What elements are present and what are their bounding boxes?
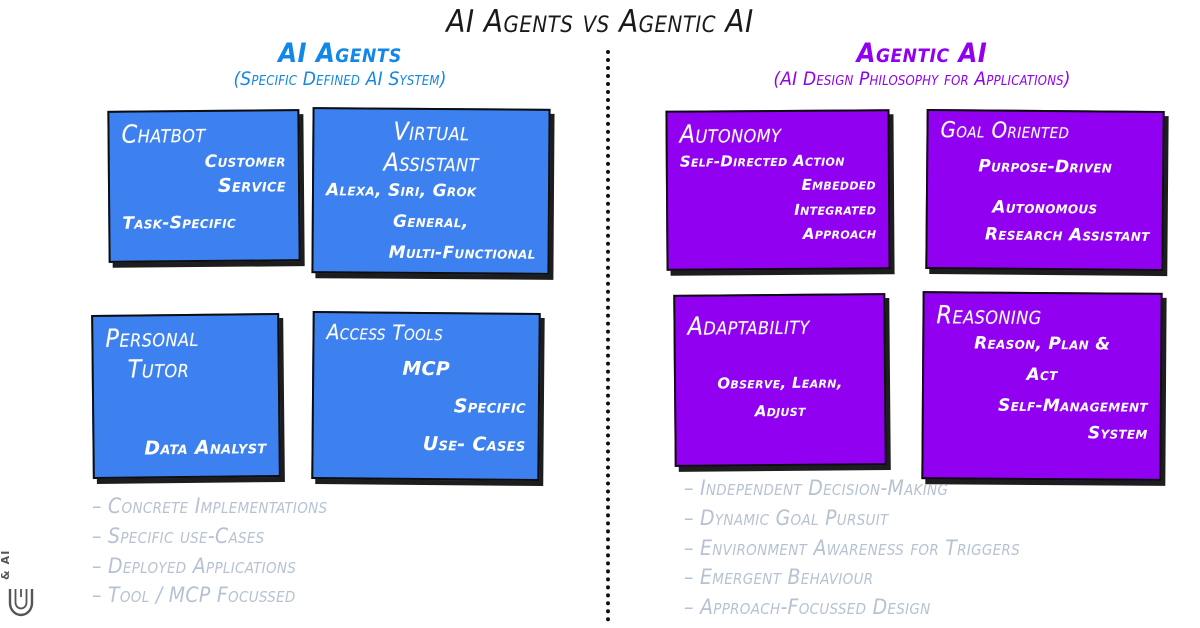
- left-column-bullets: – Concrete Implementations – Specific us…: [92, 492, 562, 611]
- card-line: Research Assistant: [940, 223, 1150, 248]
- card-line: Embedded: [680, 175, 876, 197]
- card-line: Purpose-Driven: [940, 155, 1150, 180]
- card-reasoning[interactable]: Reasoning Reason, Plan & Act Self-Manage…: [921, 291, 1162, 481]
- card-title-line-2: Assistant: [326, 148, 536, 176]
- card-title: Virtual: [326, 117, 536, 145]
- card-line: Observe, Learn,: [688, 372, 872, 394]
- right-column-title: Agentic AI: [672, 40, 1172, 68]
- bullet-item: – Environment Awareness for Triggers: [684, 534, 1184, 564]
- card-line: Autonomous: [940, 196, 1150, 221]
- card-adaptability[interactable]: Adaptability Observe, Learn, Adjust: [673, 293, 886, 467]
- card-line: Act: [936, 363, 1148, 387]
- card-line: Service: [122, 173, 286, 200]
- card-line: Specific: [326, 393, 526, 420]
- bullet-item: – Emergent Behaviour: [684, 563, 1184, 593]
- card-title-line-2: Tutor: [128, 354, 266, 382]
- card-line: Reason, Plan &: [936, 332, 1148, 356]
- card-line: Adjust: [688, 400, 872, 422]
- bullet-item: – Concrete Implementations: [92, 492, 562, 522]
- card-line: General,: [326, 210, 536, 234]
- card-line: Self-Management: [936, 394, 1148, 418]
- card-goal-oriented[interactable]: Goal Oriented Purpose-Driven Autonomous …: [925, 109, 1164, 271]
- card-autonomy[interactable]: Autonomy Self-Directed Action Embedded I…: [665, 109, 890, 271]
- card-virtual-assistant[interactable]: Virtual Assistant Alexa, Siri, Grok Gene…: [311, 107, 550, 275]
- bullet-item: – Tool / MCP Focussed: [92, 581, 562, 611]
- card-line: System: [936, 421, 1148, 445]
- bullet-item: – Independent Decision-Making: [684, 474, 1184, 504]
- card-line: Use- Cases: [325, 431, 525, 458]
- card-title: Reasoning: [936, 301, 1148, 329]
- right-column-header: Agentic AI (AI Design Philosophy for App…: [672, 40, 1172, 91]
- card-title: Adaptability: [687, 311, 871, 340]
- brand-name: COBUS GREYLING & AI: [0, 456, 12, 580]
- card-title: Access Tools: [326, 321, 526, 345]
- card-line: Multi-Functional: [325, 241, 535, 265]
- page-title: AI Agents vs Agentic AI: [0, 4, 1200, 40]
- card-access-tools[interactable]: Access Tools MCP Specific Use- Cases: [311, 311, 540, 481]
- card-line: Approach: [680, 223, 876, 245]
- card-line: Integrated: [680, 199, 876, 221]
- card-line: Task-Specific: [122, 211, 286, 235]
- bullet-item: – Specific use-Cases: [92, 522, 562, 552]
- bullet-item: – Deployed Applications: [92, 552, 562, 582]
- card-title: Chatbot: [121, 119, 285, 147]
- left-column-title: AI Agents: [100, 40, 580, 68]
- left-column-subtitle: (Specific Defined AI System): [100, 69, 580, 91]
- bullet-item: – Approach-Focussed Design: [684, 593, 1184, 623]
- card-title: Personal: [105, 323, 265, 352]
- right-column-bullets: – Independent Decision-Making – Dynamic …: [684, 474, 1184, 623]
- bullet-item: – Dynamic Goal Pursuit: [684, 504, 1184, 534]
- card-title: Autonomy: [680, 119, 876, 147]
- card-line: Customer: [122, 150, 286, 174]
- u-shield-icon: [6, 586, 36, 622]
- vertical-dotted-divider: [606, 50, 610, 622]
- card-personal-tutor[interactable]: Personal Tutor Data Analyst: [91, 313, 281, 479]
- card-title: Goal Oriented: [940, 119, 1150, 145]
- brand-watermark: COBUS GREYLING & AI: [2, 478, 48, 624]
- left-column-header: AI Agents (Specific Defined AI System): [100, 40, 580, 91]
- card-line: Alexa, Siri, Grok: [326, 179, 536, 203]
- card-line: MCP: [326, 356, 526, 383]
- card-line: Self-Directed Action: [680, 150, 876, 172]
- right-column-subtitle: (AI Design Philosophy for Applications): [672, 69, 1172, 91]
- card-chatbot[interactable]: Chatbot Customer Service Task-Specific: [107, 109, 300, 263]
- card-line: Data Analyst: [106, 435, 266, 462]
- brand-name-sub: & AI: [0, 456, 12, 580]
